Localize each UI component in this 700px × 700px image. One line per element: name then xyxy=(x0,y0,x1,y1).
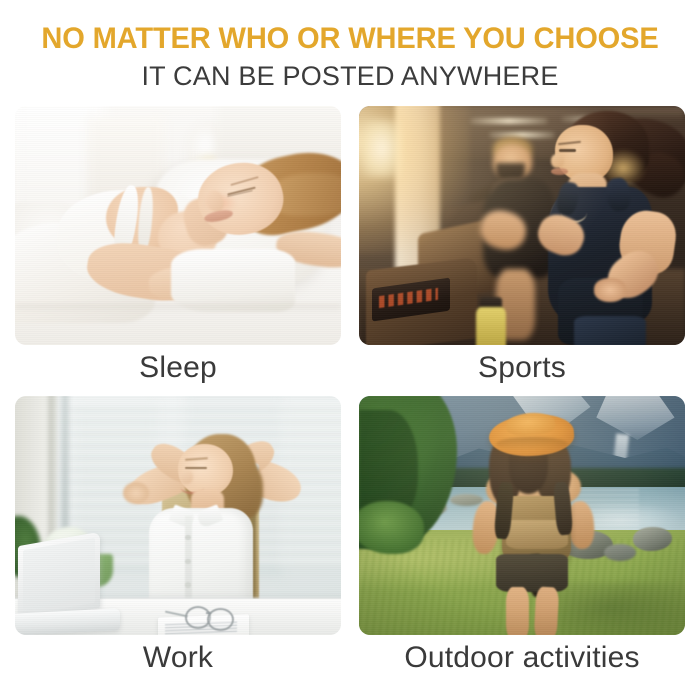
caption-work: Work xyxy=(15,635,341,681)
caption-sleep: Sleep xyxy=(15,345,341,391)
grid-cell-sleep[interactable]: Sleep xyxy=(15,106,341,391)
page-title: NO MATTER WHO OR WHERE YOU CHOOSE xyxy=(5,0,695,56)
caption-outdoor: Outdoor activities xyxy=(359,635,685,681)
page-subtitle: IT CAN BE POSTED ANYWHERE xyxy=(0,56,700,92)
grid-cell-sports[interactable]: Sports xyxy=(359,106,685,391)
scene-grid: Sleep xyxy=(0,100,700,700)
work-photo xyxy=(15,396,341,635)
grid-cell-outdoor[interactable]: Outdoor activities xyxy=(359,396,685,681)
sports-photo xyxy=(359,106,685,345)
grid-cell-work[interactable]: Work xyxy=(15,396,341,681)
sleep-photo xyxy=(15,106,341,345)
caption-sports: Sports xyxy=(359,345,685,391)
product-infographic-page: NO MATTER WHO OR WHERE YOU CHOOSE IT CAN… xyxy=(0,0,700,700)
outdoor-photo xyxy=(359,396,685,635)
header: NO MATTER WHO OR WHERE YOU CHOOSE IT CAN… xyxy=(0,0,700,92)
